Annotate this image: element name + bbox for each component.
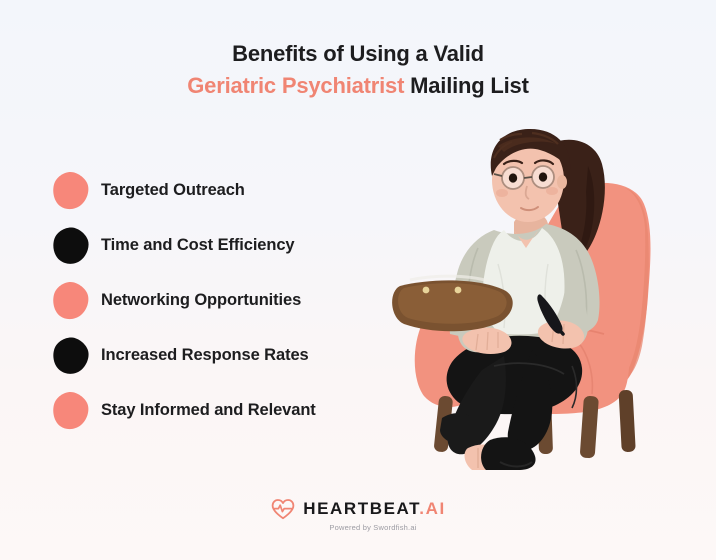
hexagon-bullet-black (50, 225, 92, 267)
heartbeat-pulse-heart-icon (270, 498, 296, 520)
infographic-canvas: Benefits of Using a Valid Geriatric Psyc… (0, 0, 716, 560)
hexagon-bullet-salmon (50, 280, 92, 322)
list-item-label: Stay Informed and Relevant (101, 401, 316, 420)
hexagon-bullet-salmon (50, 170, 92, 212)
footer-branding: HEARTBEAT.AI Powered by Swordfish.ai (0, 498, 716, 532)
list-item: Time and Cost Efficiency (50, 218, 410, 273)
logo-wordmark: HEARTBEAT.AI (303, 499, 446, 519)
list-item-label: Increased Response Rates (101, 346, 309, 365)
list-item: Stay Informed and Relevant (50, 383, 410, 438)
list-item: Networking Opportunities (50, 273, 410, 328)
list-item: Targeted Outreach (50, 163, 410, 218)
list-item-label: Targeted Outreach (101, 181, 245, 200)
title-line-2-rest: Mailing List (404, 73, 529, 98)
title-accent-text: Geriatric Psychiatrist (187, 73, 404, 98)
hexagon-bullet-salmon (50, 390, 92, 432)
logo-suffix-text: .AI (419, 499, 446, 518)
list-item-label: Time and Cost Efficiency (101, 236, 295, 255)
page-title: Benefits of Using a Valid Geriatric Psyc… (0, 38, 716, 102)
logo-row: HEARTBEAT.AI (270, 498, 446, 520)
hexagon-bullet-black (50, 335, 92, 377)
title-line-2: Geriatric Psychiatrist Mailing List (0, 70, 716, 102)
list-item-label: Networking Opportunities (101, 291, 301, 310)
footer-tagline: Powered by Swordfish.ai (329, 523, 416, 532)
list-item: Increased Response Rates (50, 328, 410, 383)
title-line-1: Benefits of Using a Valid (0, 38, 716, 70)
logo-main-text: HEARTBEAT (303, 499, 419, 518)
psychiatrist-illustration (382, 118, 712, 470)
benefits-list: Targeted Outreach Time and Cost Efficien… (50, 163, 410, 438)
